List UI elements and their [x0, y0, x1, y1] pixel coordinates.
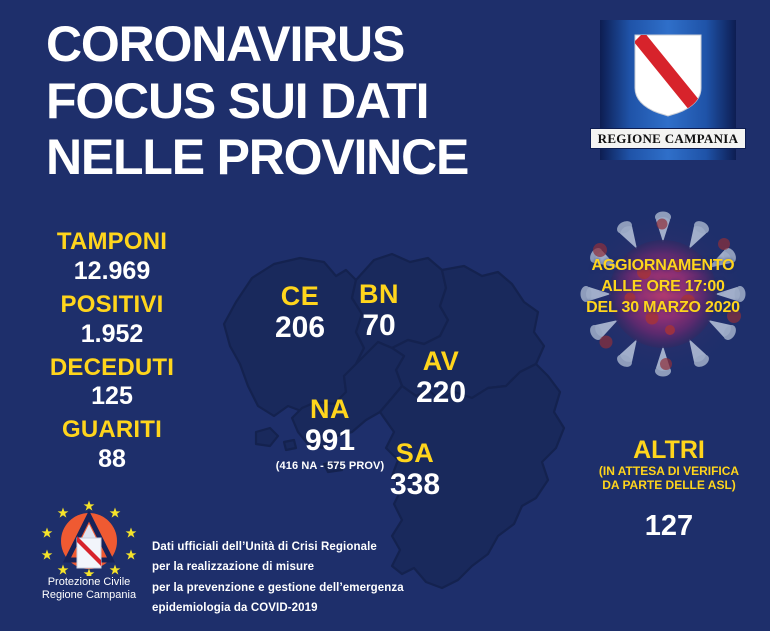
update-line-2: ALLE ORE 17:00 [566, 276, 760, 297]
update-line-3: DEL 30 MARZO 2020 [566, 297, 760, 318]
map-island-capri [324, 462, 342, 472]
stat-value-deceduti: 125 [14, 381, 210, 411]
footer-line-1: Dati ufficiali dell’Unità di Crisi Regio… [152, 537, 462, 557]
map-island-ischia [256, 428, 278, 446]
map-province-ce [224, 258, 364, 416]
protezione-civile-logo-icon: Protezione Civile Regione Campania [32, 500, 146, 610]
campania-shield-icon [632, 32, 704, 118]
statistics-panel: TAMPONI 12.969 POSITIVI 1.952 DECEDUTI 1… [14, 228, 210, 479]
stat-label-guariti: GUARITI [14, 416, 210, 444]
logo-banner-text: REGIONE CAMPANIA [598, 131, 739, 147]
protezione-civile-caption: Protezione Civile Regione Campania [32, 576, 146, 602]
update-text: AGGIORNAMENTO ALLE ORE 17:00 DEL 30 MARZ… [566, 255, 760, 318]
title-line-3: NELLE PROVINCE [46, 129, 566, 186]
update-block: AGGIORNAMENTO ALLE ORE 17:00 DEL 30 MARZ… [566, 206, 760, 382]
title-line-1: CORONAVIRUS [46, 16, 566, 73]
footer-line-4: epidemiologia da COVID-2019 [152, 598, 462, 618]
update-line-1: AGGIORNAMENTO [566, 255, 760, 276]
altri-block: ALTRI (IN ATTESA DI VERIFICA DA PARTE DE… [576, 437, 762, 543]
stat-label-tamponi: TAMPONI [14, 228, 210, 256]
stat-value-tamponi: 12.969 [14, 256, 210, 286]
footer-line-2: per la realizzazione di misure [152, 557, 462, 577]
altri-title: ALTRI [576, 437, 762, 463]
page-title: CORONAVIRUS FOCUS SUI DATI NELLE PROVINC… [46, 16, 566, 186]
regione-campania-logo: REGIONE CAMPANIA [588, 20, 748, 160]
stat-label-deceduti: DECEDUTI [14, 354, 210, 382]
pc-caption-line-2: Regione Campania [32, 589, 146, 602]
stat-value-guariti: 88 [14, 444, 210, 474]
map-island-procida [284, 440, 296, 450]
title-line-2: FOCUS SUI DATI [46, 73, 566, 130]
altri-note-line-2: DA PARTE DELLE ASL) [576, 479, 762, 493]
logo-banner: REGIONE CAMPANIA [590, 128, 746, 149]
altri-value: 127 [576, 510, 762, 543]
footer-text: Dati ufficiali dell’Unità di Crisi Regio… [152, 537, 462, 619]
altri-note: (IN ATTESA DI VERIFICA DA PARTE DELLE AS… [576, 465, 762, 493]
infographic-root: CORONAVIRUS FOCUS SUI DATI NELLE PROVINC… [0, 0, 770, 631]
stat-value-positivi: 1.952 [14, 319, 210, 349]
pc-caption-line-1: Protezione Civile [32, 576, 146, 589]
altri-note-line-1: (IN ATTESA DI VERIFICA [576, 465, 762, 479]
stat-label-positivi: POSITIVI [14, 291, 210, 319]
footer-line-3: per la prevenzione e gestione dell’emerg… [152, 578, 462, 598]
